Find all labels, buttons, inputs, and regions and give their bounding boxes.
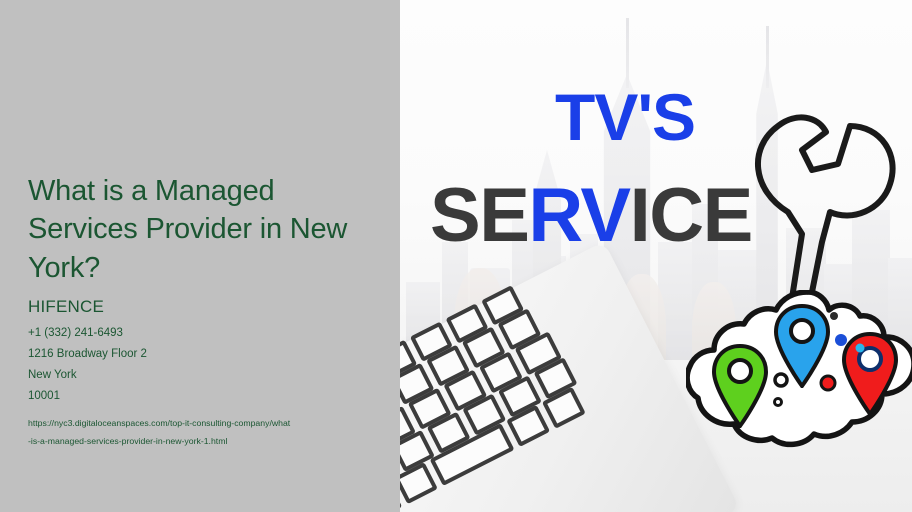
word-art-line-2: SERVICE xyxy=(430,178,752,254)
dot-outline-2 xyxy=(775,399,782,406)
phone-number[interactable]: +1 (332) 241-6493 xyxy=(28,323,373,344)
wrench-outline-icon xyxy=(730,92,912,322)
slide-root: What is a Managed Services Provider in N… xyxy=(0,0,912,512)
cloud-with-map-pins xyxy=(686,290,912,455)
source-url[interactable]: https://nyc3.digitaloceanspaces.com/top-… xyxy=(28,415,368,451)
dot-cyan xyxy=(856,344,865,353)
page-title: What is a Managed Services Provider in N… xyxy=(28,172,373,287)
word-art-tvs: TV'S xyxy=(555,80,695,154)
word-art-service-se: SE xyxy=(430,173,528,258)
right-image-panel: TV'S SERVICE xyxy=(400,0,912,512)
word-art-service-rv: RV xyxy=(528,173,629,258)
address-zip: 10001 xyxy=(28,386,373,407)
address-city: New York xyxy=(28,365,373,386)
dot-blue xyxy=(835,334,847,346)
address-line-1: 1216 Broadway Floor 2 xyxy=(28,344,373,365)
dot-red xyxy=(821,376,835,390)
word-art-line-1: TV'S xyxy=(555,84,695,150)
word-art-service-ice: ICE xyxy=(630,173,752,258)
text-block: What is a Managed Services Provider in N… xyxy=(28,172,373,451)
brand-name: HIFENCE xyxy=(28,297,373,317)
dot-dark xyxy=(830,312,838,320)
source-url-line-2: -is-a-managed-services-provider-in-new-y… xyxy=(28,433,368,451)
accent-dots xyxy=(686,290,912,455)
dot-outline-1 xyxy=(775,374,787,386)
left-text-panel: What is a Managed Services Provider in N… xyxy=(0,0,400,512)
source-url-line-1: https://nyc3.digitaloceanspaces.com/top-… xyxy=(28,415,368,433)
